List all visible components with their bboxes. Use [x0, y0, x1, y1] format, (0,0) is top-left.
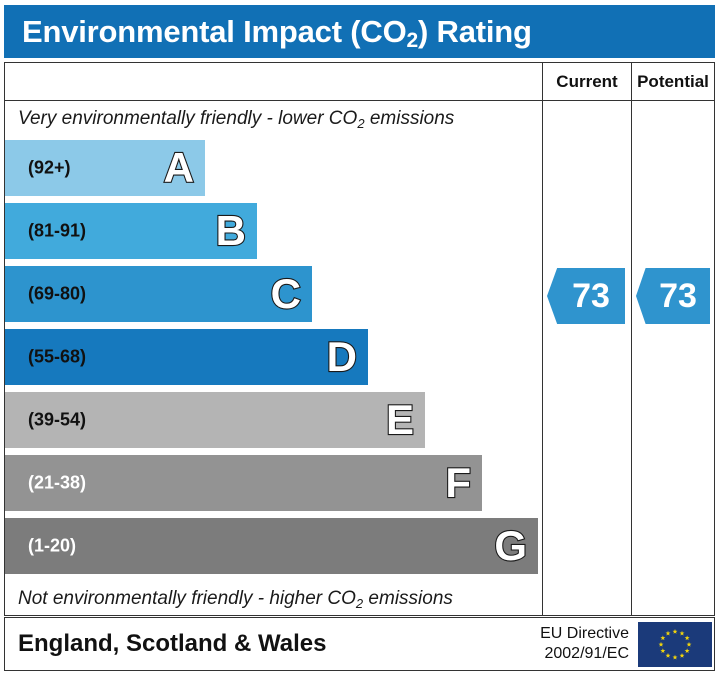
rating-band-f: (21-38)F [5, 455, 482, 511]
footer-eu-directive: EU Directive 2002/91/EC [519, 624, 629, 664]
chart-title-bar: Environmental Impact (CO2) Rating [4, 5, 715, 58]
current-rating-arrow: 73 [547, 268, 625, 324]
rating-band-b: (81-91)B [5, 203, 257, 259]
rating-band-g: (1-20)G [5, 518, 538, 574]
potential-rating-arrow: 73 [636, 268, 710, 324]
rating-band-c: (69-80)C [5, 266, 312, 322]
rating-band-a: (92+)A [5, 140, 205, 196]
eu-flag-icon [638, 622, 712, 667]
rating-band-d: (55-68)D [5, 329, 368, 385]
caption-very-environmentally-friendly: Very environmentally friendly - lower CO… [18, 108, 454, 130]
rating-band-row: (39-54)E [5, 392, 542, 455]
band-letter-label: D [327, 336, 357, 378]
column-header-current: Current [543, 63, 631, 101]
band-range-label: (81-91) [28, 221, 86, 242]
band-range-label: (21-38) [28, 473, 86, 494]
caption-bottom-suffix: emissions [363, 588, 453, 609]
eu-directive-line2: 2002/91/EC [519, 644, 629, 664]
rating-band-row: (55-68)D [5, 329, 542, 392]
caption-top-suffix: emissions [365, 108, 455, 129]
divider-under-left-header-cell [4, 100, 543, 101]
band-range-label: (39-54) [28, 410, 86, 431]
rating-band-row: (21-38)F [5, 455, 542, 518]
band-letter-label: F [445, 462, 471, 504]
caption-bottom-prefix: Not environmentally friendly - higher CO [18, 588, 356, 609]
caption-top-prefix: Very environmentally friendly - lower CO [18, 108, 357, 129]
page-title-suffix: ) Rating [418, 14, 532, 49]
caption-bottom-subscript: 2 [356, 596, 363, 611]
band-letter-label: G [494, 525, 527, 567]
band-letter-label: E [386, 399, 414, 441]
divider-current-potential [631, 62, 632, 616]
band-range-label: (92+) [28, 158, 71, 179]
column-header-potential: Potential [632, 63, 714, 101]
caption-top-subscript: 2 [357, 116, 364, 131]
rating-band-row: (92+)A [5, 140, 542, 203]
page-title: Environmental Impact (CO2) Rating [22, 14, 532, 50]
band-range-label: (69-80) [28, 284, 86, 305]
band-letter-label: C [271, 273, 301, 315]
caption-not-environmentally-friendly: Not environmentally friendly - higher CO… [18, 588, 453, 610]
footer-region-label: England, Scotland & Wales [18, 630, 326, 658]
band-range-label: (55-68) [28, 347, 86, 368]
rating-band-row: (81-91)B [5, 203, 542, 266]
rating-bands-container: (92+)A(81-91)B(69-80)C(55-68)D(39-54)E(2… [5, 140, 542, 582]
band-letter-label: B [216, 210, 246, 252]
rating-band-row: (1-20)G [5, 518, 542, 581]
epc-environmental-impact-chart: Environmental Impact (CO2) Rating Curren… [0, 0, 719, 675]
rating-band-row: (69-80)C [5, 266, 542, 329]
divider-bars-current [542, 62, 543, 616]
page-title-prefix: Environmental Impact (CO [22, 14, 407, 49]
rating-band-e: (39-54)E [5, 392, 425, 448]
band-range-label: (1-20) [28, 536, 76, 557]
eu-directive-line1: EU Directive [519, 624, 629, 644]
potential-rating-value: 73 [649, 279, 697, 313]
current-rating-value: 73 [562, 279, 610, 313]
page-title-subscript: 2 [407, 29, 418, 52]
band-letter-label: A [164, 147, 194, 189]
